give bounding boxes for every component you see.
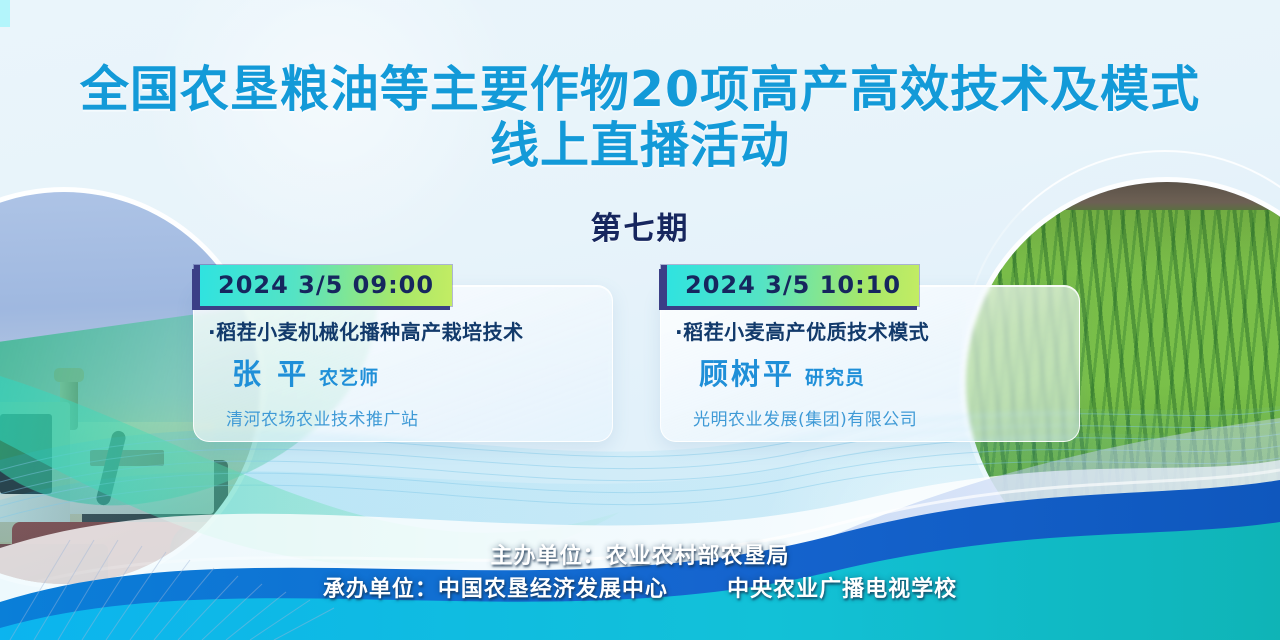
session-speaker-row: 张 平 农艺师 (232, 351, 612, 393)
session-speaker-row: 顾树平 研究员 (699, 351, 1079, 393)
footer-co-organizers: 承办单位：中国农垦经济发展中心 中央农业广播电视学校 (0, 573, 1280, 606)
poster-title: 全国农垦粮油等主要作物20项高产高效技术及模式 线上直播活动 (0, 62, 1280, 174)
footer-co-organizer-2: 中央农业广播电视学校 (727, 577, 957, 602)
session-card-list: 2024 3/5 09:00 ·稻茬小麦机械化播种高产栽培技术 张 平 农艺师 … (0, 265, 1280, 455)
session-datetime-badge: 2024 3/5 10:10 (661, 265, 919, 306)
speaker-title: 农艺师 (319, 363, 379, 390)
session-topic: ·稻茬小麦机械化播种高产栽培技术 (208, 316, 612, 345)
session-card-body: ·稻茬小麦机械化播种高产栽培技术 张 平 农艺师 清河农场农业技术推广站 (194, 316, 612, 430)
session-card[interactable]: 2024 3/5 10:10 ·稻茬小麦高产优质技术模式 顾树平 研究员 光明农… (660, 285, 1080, 442)
session-topic: ·稻茬小麦高产优质技术模式 (675, 316, 1079, 345)
speaker-title: 研究员 (805, 363, 865, 390)
title-line-1: 全国农垦粮油等主要作物20项高产高效技术及模式 (0, 62, 1280, 118)
session-datetime-badge: 2024 3/5 09:00 (194, 265, 452, 306)
footer-co-organizer-1: 承办单位：中国农垦经济发展中心 (323, 577, 668, 602)
corner-accent-chip (0, 0, 10, 27)
session-card[interactable]: 2024 3/5 09:00 ·稻茬小麦机械化播种高产栽培技术 张 平 农艺师 … (193, 285, 613, 442)
footer-organizer: 主办单位：农业农村部农垦局 (0, 540, 1280, 573)
speaker-name: 顾树平 (699, 351, 795, 393)
speaker-name: 张 平 (232, 351, 309, 393)
poster-footer: 主办单位：农业农村部农垦局 承办单位：中国农垦经济发展中心 中央农业广播电视学校 (0, 540, 1280, 606)
issue-number: 第七期 (0, 203, 1280, 248)
speaker-organization: 清河农场农业技术推广站 (226, 405, 612, 430)
speaker-organization: 光明农业发展(集团)有限公司 (693, 405, 1079, 430)
event-poster: 全国农垦粮油等主要作物20项高产高效技术及模式 线上直播活动 第七期 2024 … (0, 0, 1280, 640)
title-line-2: 线上直播活动 (0, 118, 1280, 174)
session-card-body: ·稻茬小麦高产优质技术模式 顾树平 研究员 光明农业发展(集团)有限公司 (661, 316, 1079, 430)
